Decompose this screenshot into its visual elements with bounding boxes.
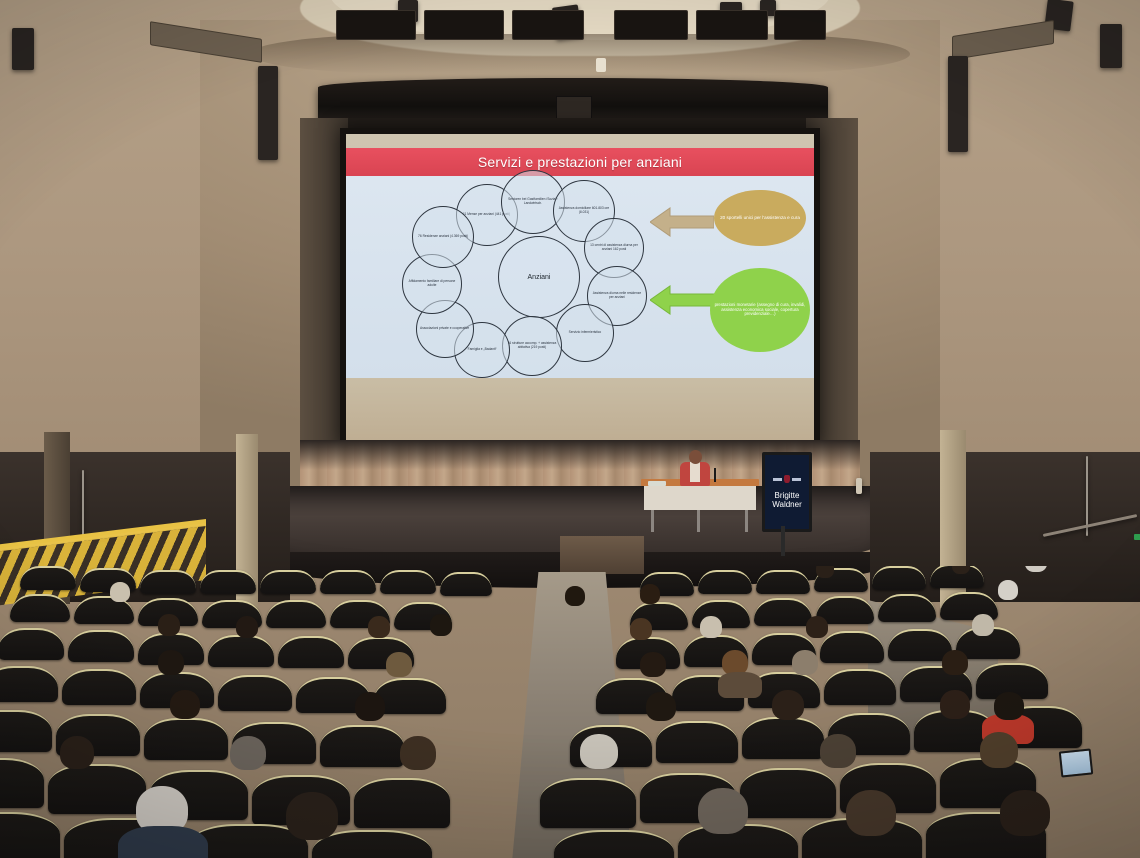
seat [740,768,836,818]
audience-head [170,690,200,719]
diagram-circle: Servizio infermieristico [556,304,614,362]
audience-head [980,732,1018,768]
truss-panel [774,10,826,40]
audience-head [640,652,666,677]
diagram-circle: 16 strutture accomp. + assistenza abitat… [502,316,562,376]
diagram-center-circle: Anziani [498,236,580,318]
audience-head [110,582,130,602]
audience-head [1000,790,1050,836]
seat [48,764,146,814]
audience-head [640,584,660,604]
audience-head [355,692,385,721]
presenter-head [689,450,702,464]
audience-head [158,614,180,636]
seat [0,628,64,660]
speaker-lastname: Waldner [772,500,802,509]
audience-head [400,736,436,770]
truss-panel [336,10,416,40]
seat [354,778,450,828]
audience-head [994,692,1024,720]
audience-head [1025,566,1047,572]
seat [140,570,196,594]
audience-head [286,792,338,840]
seat [0,812,60,858]
audience-head [820,734,856,768]
seat [10,594,70,622]
arrow-green-icon [650,284,714,316]
audience-head [386,652,412,677]
audience-head [580,734,618,769]
seat [742,717,824,759]
audience-head [816,566,834,578]
seat [260,570,316,594]
audience-head [998,580,1018,600]
table-leg [745,510,748,532]
ceiling-emergency-light [596,58,606,72]
audience-head [646,692,676,721]
seat [878,594,936,622]
wall-fixture-left [12,28,34,70]
callout-green: prestazioni monetarie (assegno di cura, … [710,268,810,352]
audience-head [698,788,748,834]
audience-head [60,736,94,769]
audience-head [806,616,828,638]
projection-screen: Servizi e prestazioni per anziani Anzian… [346,134,814,440]
seat [0,710,52,752]
audience-head [792,650,818,675]
audience-seating [0,566,1140,858]
seat [698,570,752,594]
seat [266,600,326,628]
audience-head [230,736,266,770]
seat [872,566,926,590]
speaker-firstname: Brigitte [772,491,802,500]
seat [144,718,228,760]
speaker-name-display: Brigitte Waldner [762,452,812,532]
seat [656,721,738,763]
audience-head [772,690,804,720]
audience-shoulders [718,672,762,698]
audience-shoulders [118,826,208,858]
diagram-center-label: Anziani [528,274,551,281]
audience-head [700,616,722,638]
callout-gold: 20 sportelli unici per l'assistenza e cu… [714,190,806,246]
wall-column-left [258,66,278,160]
audience-head [430,614,452,636]
seat [824,669,896,705]
screen-blank-area [346,378,814,440]
audience-head [565,586,585,606]
seat [820,631,884,663]
organization-logo-icon [770,475,804,484]
audience-tablet-device[interactable] [1059,748,1094,777]
speaker-name: Brigitte Waldner [772,491,802,509]
seat [20,566,76,590]
seat [200,570,256,594]
table-papers [648,481,666,486]
seat [756,570,810,594]
seat [278,636,344,668]
seat [554,830,674,858]
table-leg [651,510,654,532]
seat [218,675,292,711]
display-stand [781,526,785,556]
seat [320,570,376,594]
seat [68,630,134,662]
truss-panel [614,10,688,40]
seat [540,778,636,828]
seat [380,570,436,594]
audience-head [368,616,390,638]
presentation-slide: Servizi e prestazioni per anziani Anzian… [346,148,814,378]
audience-head [158,650,184,675]
seat [320,725,404,767]
seat [0,758,44,808]
wall-column-right [948,56,968,152]
diagram-circle: 76 Residenze anziani (4.369 posti) [412,206,474,268]
ceiling-shadow [250,34,910,74]
presenter-scarf [690,462,700,482]
microphone [714,468,716,482]
seat [62,669,136,705]
seat [754,598,812,626]
arrow-gold-icon [650,206,714,238]
audience-head [972,614,994,636]
table-front-panel [644,486,756,510]
exit-sign-icon [1134,534,1140,540]
audience-head [846,790,896,836]
truss-panel [512,10,584,40]
audience-head [942,650,968,675]
seat [440,572,492,596]
crest-icon [784,475,790,483]
seat [208,635,274,667]
slide-body: Anziani 11 Mense per anziani (441 posti)… [346,176,814,378]
truss-panel [424,10,504,40]
seat [0,666,58,702]
wall-fixture-right [1100,24,1122,68]
audience-head [630,618,652,640]
audience-head [236,616,258,638]
bottle-on-table [856,478,862,494]
audience-head [940,690,970,719]
handrail-left [82,470,84,542]
auditorium-scene: Servizi e prestazioni per anziani Anzian… [0,0,1140,858]
slide-header-bar: Servizi e prestazioni per anziani [346,148,814,176]
table-leg [697,510,700,532]
truss-panel [696,10,768,40]
slide-title: Servizi e prestazioni per anziani [478,154,682,170]
presenter-person [680,450,710,486]
